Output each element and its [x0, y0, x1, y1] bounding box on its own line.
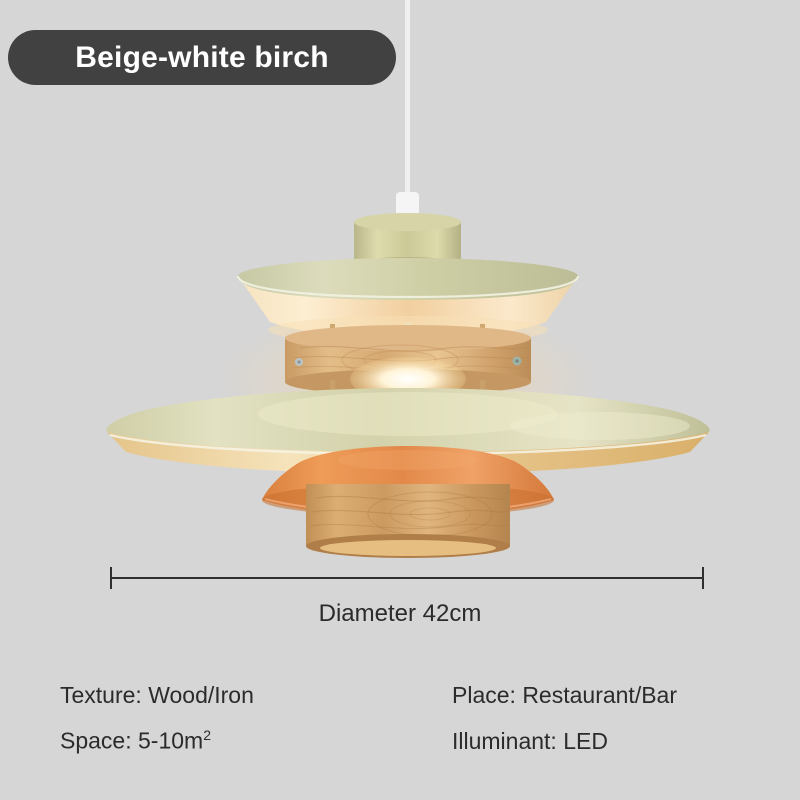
spec-illuminant: Illuminant: LED: [452, 728, 752, 755]
spec-space: Space: 5-10m2: [60, 727, 452, 755]
spec-space-superscript: 2: [203, 727, 211, 743]
dimension-label: Diameter 42cm: [0, 600, 800, 628]
color-variant-label: Beige-white birch: [75, 41, 328, 75]
wood-base: [306, 484, 510, 558]
dimension-line: [0, 560, 800, 600]
spec-row: Texture: Wood/Iron Place: Restaurant/Bar: [60, 672, 760, 718]
product-image-canvas: Beige-white birch Diameter 42cm Texture:…: [0, 0, 800, 800]
specification-list: Texture: Wood/Iron Place: Restaurant/Bar…: [60, 672, 760, 764]
dimension-rule: [110, 577, 704, 579]
spec-row: Space: 5-10m2 Illuminant: LED: [60, 718, 760, 764]
dimension-cap-left: [110, 567, 112, 589]
dimension-cap-right: [702, 567, 704, 589]
color-variant-badge[interactable]: Beige-white birch: [8, 30, 396, 85]
spec-texture: Texture: Wood/Iron: [60, 682, 452, 709]
spec-place: Place: Restaurant/Bar: [452, 682, 752, 709]
spec-space-text: Space: 5-10m: [60, 728, 203, 754]
cord: [405, 0, 410, 200]
